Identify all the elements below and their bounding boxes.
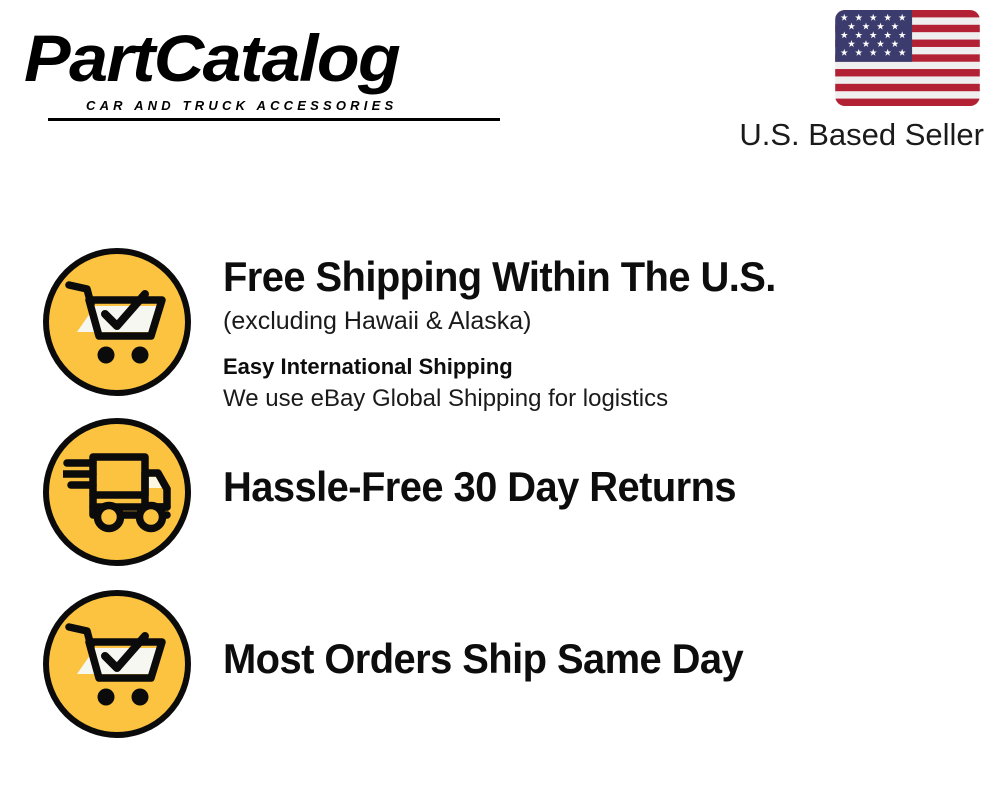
us-based-seller-label: U.S. Based Seller [739, 116, 984, 154]
feature-text-block: Free Shipping Within The U.S. (excluding… [191, 248, 983, 415]
brand-logo: PartCatalog CAR AND TRUCK ACCESSORIES [24, 22, 494, 117]
banner-header: PartCatalog CAR AND TRUCK ACCESSORIES [0, 0, 1000, 175]
feature-row: Hassle-Free 30 Day Returns [43, 418, 983, 566]
feature-secondary-text: We use eBay Global Shipping for logistic… [223, 383, 983, 415]
feature-secondary-heading: Easy International Shipping [223, 352, 983, 382]
feature-title: Most Orders Ship Same Day [223, 634, 945, 684]
feature-text-block: Hassle-Free 30 Day Returns [191, 418, 983, 512]
feature-subtitle: (excluding Hawaii & Alaska) [223, 304, 983, 338]
feature-title: Hassle-Free 30 Day Returns [223, 462, 945, 512]
us-flag-icon [835, 10, 980, 106]
feature-row: Free Shipping Within The U.S. (excluding… [43, 248, 983, 415]
feature-title: Free Shipping Within The U.S. [223, 252, 945, 302]
feature-row: Most Orders Ship Same Day [43, 590, 983, 738]
feature-text-block: Most Orders Ship Same Day [191, 590, 983, 684]
brand-tagline: CAR AND TRUCK ACCESSORIES [86, 98, 397, 113]
cart-check-icon [43, 248, 191, 396]
brand-wordmark: PartCatalog [24, 22, 522, 94]
delivery-truck-icon [43, 418, 191, 566]
cart-check-icon [43, 590, 191, 738]
logo-underline-rule [48, 118, 500, 121]
